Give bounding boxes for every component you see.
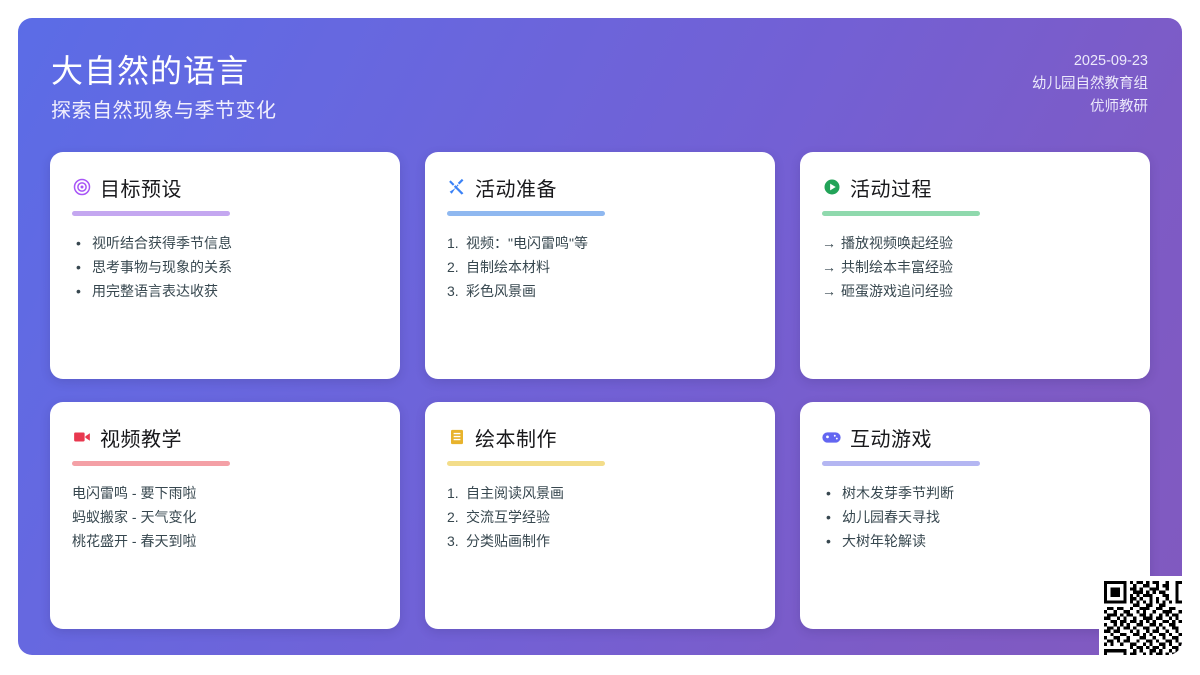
slide-header: 大自然的语言 探索自然现象与季节变化 2025-09-23 幼儿园自然教育组 优… [18,18,1182,142]
list-item-text: 分类贴画制作 [466,529,550,553]
page-subtitle: 探索自然现象与季节变化 [51,94,277,123]
card-accent-rule [447,461,605,466]
qr-code-image [1104,581,1182,655]
card-header: 互动游戏 [822,422,1128,452]
header-date: 2025-09-23 [1032,50,1148,73]
card-title: 互动游戏 [850,423,932,452]
card-list: •视听结合获得季节信息•思考事物与现象的关系•用完整语言表达收获 [72,231,378,303]
list-item-text: 幼儿园春天寻找 [842,505,940,529]
list-item-text: 用完整语言表达收获 [92,279,218,303]
list-item-text: 大树年轮解读 [842,529,926,553]
list-item-text: 交流互学经验 [466,505,550,529]
list-item: 3.彩色风景画 [447,279,753,303]
header-source: 优师教研 [1032,96,1148,119]
list-item: •大树年轮解读 [822,529,1128,553]
card-title: 活动过程 [850,173,932,202]
card[interactable]: 目标预设•视听结合获得季节信息•思考事物与现象的关系•用完整语言表达收获 [50,152,400,379]
tools-icon [447,178,466,197]
list-item: 电闪雷鸣 - 要下雨啦 [72,481,378,505]
list-item: 2.交流互学经验 [447,505,753,529]
qr-code[interactable] [1099,576,1182,655]
card-title: 绘本制作 [475,423,557,452]
list-item-text: 砸蛋游戏追问经验 [841,279,953,303]
list-item-marker: • [822,505,842,529]
list-item-marker: 1. [447,481,466,505]
card[interactable]: 互动游戏•树木发芽季节判断•幼儿园春天寻找•大树年轮解读 [800,402,1150,629]
list-item-marker: 1. [447,231,466,255]
list-item: →共制绘本丰富经验 [822,255,1128,279]
list-item-marker: 2. [447,255,466,279]
list-item-text: 电闪雷鸣 - 要下雨啦 [72,481,196,505]
card-accent-rule [822,461,980,466]
card-title: 视频教学 [100,423,182,452]
card-title: 目标预设 [100,173,182,202]
card-list: 1.自主阅读风景画2.交流互学经验3.分类贴画制作 [447,481,753,553]
list-item-marker: • [822,481,842,505]
list-item-marker: 3. [447,279,466,303]
list-item-marker: • [72,255,92,279]
list-item-marker: 3. [447,529,466,553]
list-item-text: 思考事物与现象的关系 [92,255,232,279]
list-item: 3.分类贴画制作 [447,529,753,553]
play-circle-icon [822,178,841,197]
list-item: •视听结合获得季节信息 [72,231,378,255]
gamepad-icon [822,428,841,447]
list-item: 桃花盛开 - 春天到啦 [72,529,378,553]
list-item-text: 视听结合获得季节信息 [92,231,232,255]
list-item-text: 共制绘本丰富经验 [841,255,953,279]
card-header: 活动过程 [822,172,1128,202]
list-item: →播放视频唤起经验 [822,231,1128,255]
list-item-text: 蚂蚁搬家 - 天气变化 [72,505,196,529]
card[interactable]: 视频教学电闪雷鸣 - 要下雨啦蚂蚁搬家 - 天气变化桃花盛开 - 春天到啦 [50,402,400,629]
card-list: →播放视频唤起经验→共制绘本丰富经验→砸蛋游戏追问经验 [822,231,1128,303]
card-header: 视频教学 [72,422,378,452]
list-item-text: 播放视频唤起经验 [841,231,953,255]
book-icon [447,428,466,447]
list-item: •幼儿园春天寻找 [822,505,1128,529]
card[interactable]: 绘本制作1.自主阅读风景画2.交流互学经验3.分类贴画制作 [425,402,775,629]
card-title: 活动准备 [475,173,557,202]
list-item: •思考事物与现象的关系 [72,255,378,279]
list-item-text: 彩色风景画 [466,279,536,303]
list-item-marker: • [822,529,842,553]
list-item-text: 桃花盛开 - 春天到啦 [72,529,196,553]
list-item-text: 树木发芽季节判断 [842,481,954,505]
slide: 大自然的语言 探索自然现象与季节变化 2025-09-23 幼儿园自然教育组 优… [18,18,1182,655]
card[interactable]: 活动过程→播放视频唤起经验→共制绘本丰富经验→砸蛋游戏追问经验 [800,152,1150,379]
card-list: •树木发芽季节判断•幼儿园春天寻找•大树年轮解读 [822,481,1128,553]
list-item-marker: • [72,279,92,303]
card[interactable]: 活动准备1.视频："电闪雷鸣"等2.自制绘本材料3.彩色风景画 [425,152,775,379]
card-list: 1.视频："电闪雷鸣"等2.自制绘本材料3.彩色风景画 [447,231,753,303]
list-item-marker: → [822,231,841,255]
list-item: •用完整语言表达收获 [72,279,378,303]
card-header: 目标预设 [72,172,378,202]
list-item: 1.自主阅读风景画 [447,481,753,505]
card-accent-rule [72,211,230,216]
list-item: 2.自制绘本材料 [447,255,753,279]
list-item-text: 视频："电闪雷鸣"等 [466,231,588,255]
card-header: 绘本制作 [447,422,753,452]
bullseye-icon [72,178,91,197]
video-camera-icon [72,428,91,447]
list-item-marker: • [72,231,92,255]
card-header: 活动准备 [447,172,753,202]
list-item-text: 自主阅读风景画 [466,481,564,505]
card-accent-rule [447,211,605,216]
card-list: 电闪雷鸣 - 要下雨啦蚂蚁搬家 - 天气变化桃花盛开 - 春天到啦 [72,481,378,553]
list-item: 蚂蚁搬家 - 天气变化 [72,505,378,529]
card-accent-rule [72,461,230,466]
list-item: •树木发芽季节判断 [822,481,1128,505]
card-accent-rule [822,211,980,216]
list-item-marker: → [822,279,841,303]
list-item: →砸蛋游戏追问经验 [822,279,1128,303]
list-item-text: 自制绘本材料 [466,255,550,279]
list-item-marker: 2. [447,505,466,529]
page-title: 大自然的语言 [51,46,249,92]
header-meta: 2025-09-23 幼儿园自然教育组 优师教研 [1032,50,1148,119]
list-item: 1.视频："电闪雷鸣"等 [447,231,753,255]
card-grid: 目标预设•视听结合获得季节信息•思考事物与现象的关系•用完整语言表达收获活动准备… [50,152,1150,629]
list-item-marker: → [822,255,841,279]
header-org: 幼儿园自然教育组 [1032,73,1148,96]
